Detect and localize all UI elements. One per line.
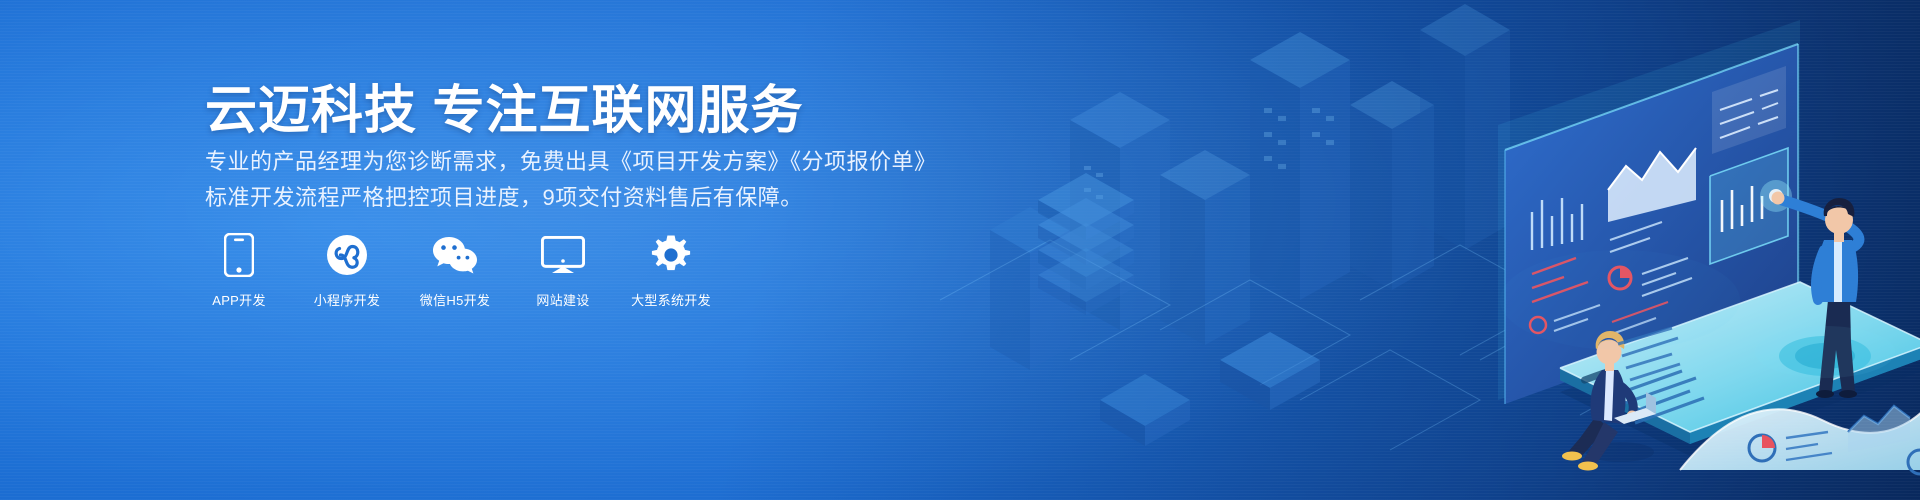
subtitle-line-2: 标准开发流程严格把控项目进度，9项交付资料售后有保障。 [205,180,803,212]
service-label-website: 网站建设 [536,290,589,309]
monitor-icon [540,232,586,278]
subtitle-line-1: 专业的产品经理为您诊断需求，免费出具《项目开发方案》《分项报价单》 [205,144,937,176]
gear-icon [648,232,694,278]
service-label-system: 大型系统开发 [631,290,711,309]
service-icon-row: APP开发 小程序开发 [205,232,705,309]
service-item-system[interactable]: 大型系统开发 [637,232,705,309]
service-label-miniprogram: 小程序开发 [314,290,381,309]
banner-content: 云迈科技 专注互联网服务 专业的产品经理为您诊断需求，免费出具《项目开发方案》《… [205,0,1105,500]
service-label-app: APP开发 [212,290,266,309]
small-platform-cube [1220,332,1320,410]
service-label-wechat: 微信H5开发 [420,290,490,309]
wechat-icon [432,232,478,278]
promo-banner: 云迈科技 专注互联网服务 专业的产品经理为您诊断需求，免费出具《项目开发方案》《… [0,0,1920,500]
mini-program-icon [324,232,370,278]
service-item-miniprogram[interactable]: 小程序开发 [313,232,381,309]
mobile-phone-icon [216,232,262,278]
service-item-website[interactable]: 网站建设 [529,232,597,309]
small-platform-cube-2 [1100,374,1190,446]
page-title: 云迈科技 专注互联网服务 [205,68,803,143]
service-item-app[interactable]: APP开发 [205,232,273,309]
service-item-wechat[interactable]: 微信H5开发 [421,232,489,309]
